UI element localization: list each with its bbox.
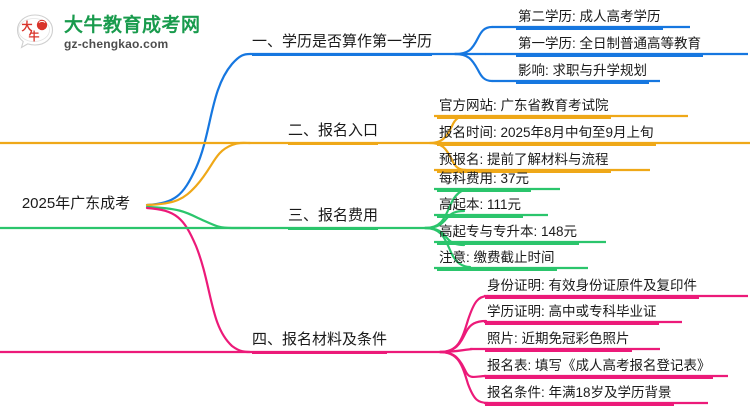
wire-root-to-branch3: [147, 207, 250, 228]
leaf-node[interactable]: 报名表: 填写《成人高考报名登记表》: [485, 354, 713, 379]
leaf-node[interactable]: 注意: 缴费截止时间: [437, 246, 557, 271]
branch-topic-3[interactable]: 三、报名费用: [288, 204, 378, 230]
root-topic[interactable]: 2025年广东成考: [8, 192, 144, 213]
leaf-node[interactable]: 影响: 求职与升学规划: [516, 59, 649, 84]
wire-branch4-leaf3: [440, 349, 472, 352]
leaf-node[interactable]: 报名条件: 年满18岁及学历背景: [485, 381, 674, 406]
leaf-node[interactable]: 高起专与专升本: 148元: [437, 220, 579, 245]
wire-root-to-branch4: [147, 208, 250, 352]
wire-branch4-leaf1: [440, 296, 488, 352]
leaf-node[interactable]: 第一学历: 全日制普通高等教育: [516, 32, 703, 57]
mindmap-canvas: 大 牛 大牛教育成考网 gz-chengkao.com 2025年广东成考 一、…: [0, 0, 750, 410]
leaf-node[interactable]: 高起本: 111元: [437, 193, 523, 218]
leaf-node[interactable]: 学历证明: 高中或专科毕业证: [485, 300, 659, 325]
wire-branch4-leaf2: [440, 321, 486, 352]
leaf-node[interactable]: 照片: 近期免冠彩色照片: [485, 327, 632, 352]
leaf-node[interactable]: 身份证明: 有效身份证原件及复印件: [485, 274, 699, 299]
wire-branch4-leaf4: [440, 352, 486, 377]
wire-root-to-branch2: [147, 143, 250, 205]
leaf-node[interactable]: 官方网站: 广东省教育考试院: [437, 94, 611, 119]
daniu-bull-speech-bubble-logo-icon: 大 牛: [14, 12, 56, 54]
wire-root-to-branch1: [147, 54, 250, 205]
site-logo[interactable]: 大 牛 大牛教育成考网 gz-chengkao.com: [14, 12, 201, 54]
branch-topic-4[interactable]: 四、报名材料及条件: [252, 328, 387, 354]
leaf-node[interactable]: 报名时间: 2025年8月中旬至9月上旬: [437, 121, 656, 146]
wire-branch1-leaf3: [455, 54, 492, 81]
branch-topic-1[interactable]: 一、学历是否算作第一学历: [252, 30, 432, 56]
leaf-node[interactable]: 每科费用: 37元: [437, 167, 531, 192]
svg-text:牛: 牛: [29, 29, 40, 43]
wire-branch1-leaf1: [455, 27, 492, 54]
logo-subtitle: gz-chengkao.com: [64, 38, 201, 51]
leaf-node[interactable]: 第二学历: 成人高考学历: [516, 5, 663, 30]
logo-title: 大牛教育成考网: [64, 16, 201, 36]
wire-branch4-leaf5: [440, 352, 488, 403]
branch-topic-2[interactable]: 二、报名入口: [288, 119, 378, 145]
